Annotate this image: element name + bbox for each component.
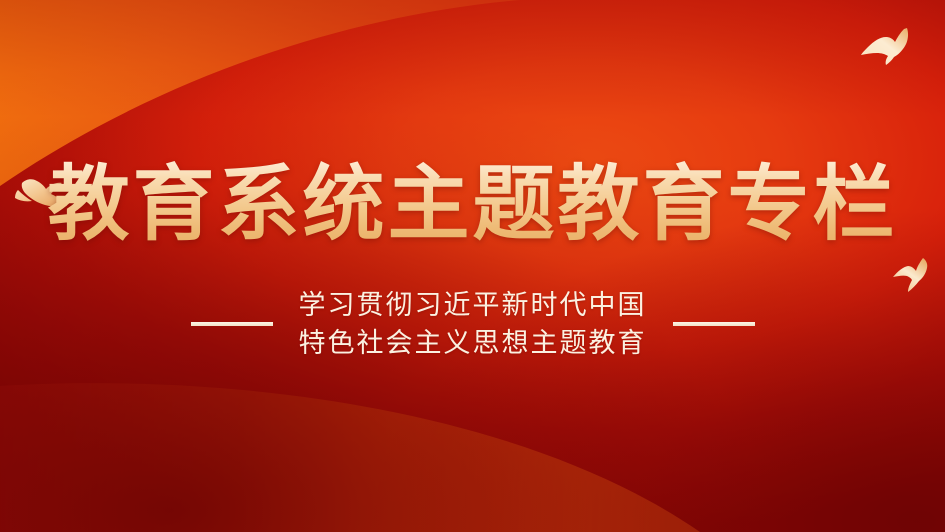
subtitle-line-2: 特色社会主义思想主题教育	[299, 324, 647, 362]
subtitle-block: 学习贯彻习近平新时代中国 特色社会主义思想主题教育	[0, 286, 945, 362]
subtitle-line-1: 学习贯彻习近平新时代中国	[299, 286, 647, 324]
theme-education-banner: 教育系统主题教育专栏 学习贯彻习近平新时代中国 特色社会主义思想主题教育	[0, 0, 945, 532]
subtitle-text: 学习贯彻习近平新时代中国 特色社会主义思想主题教育	[299, 286, 647, 362]
banner-content: 教育系统主题教育专栏 学习贯彻习近平新时代中国 特色社会主义思想主题教育	[0, 0, 945, 532]
page-title: 教育系统主题教育专栏	[0, 156, 945, 254]
rule-left	[191, 322, 273, 326]
rule-right	[673, 322, 755, 326]
